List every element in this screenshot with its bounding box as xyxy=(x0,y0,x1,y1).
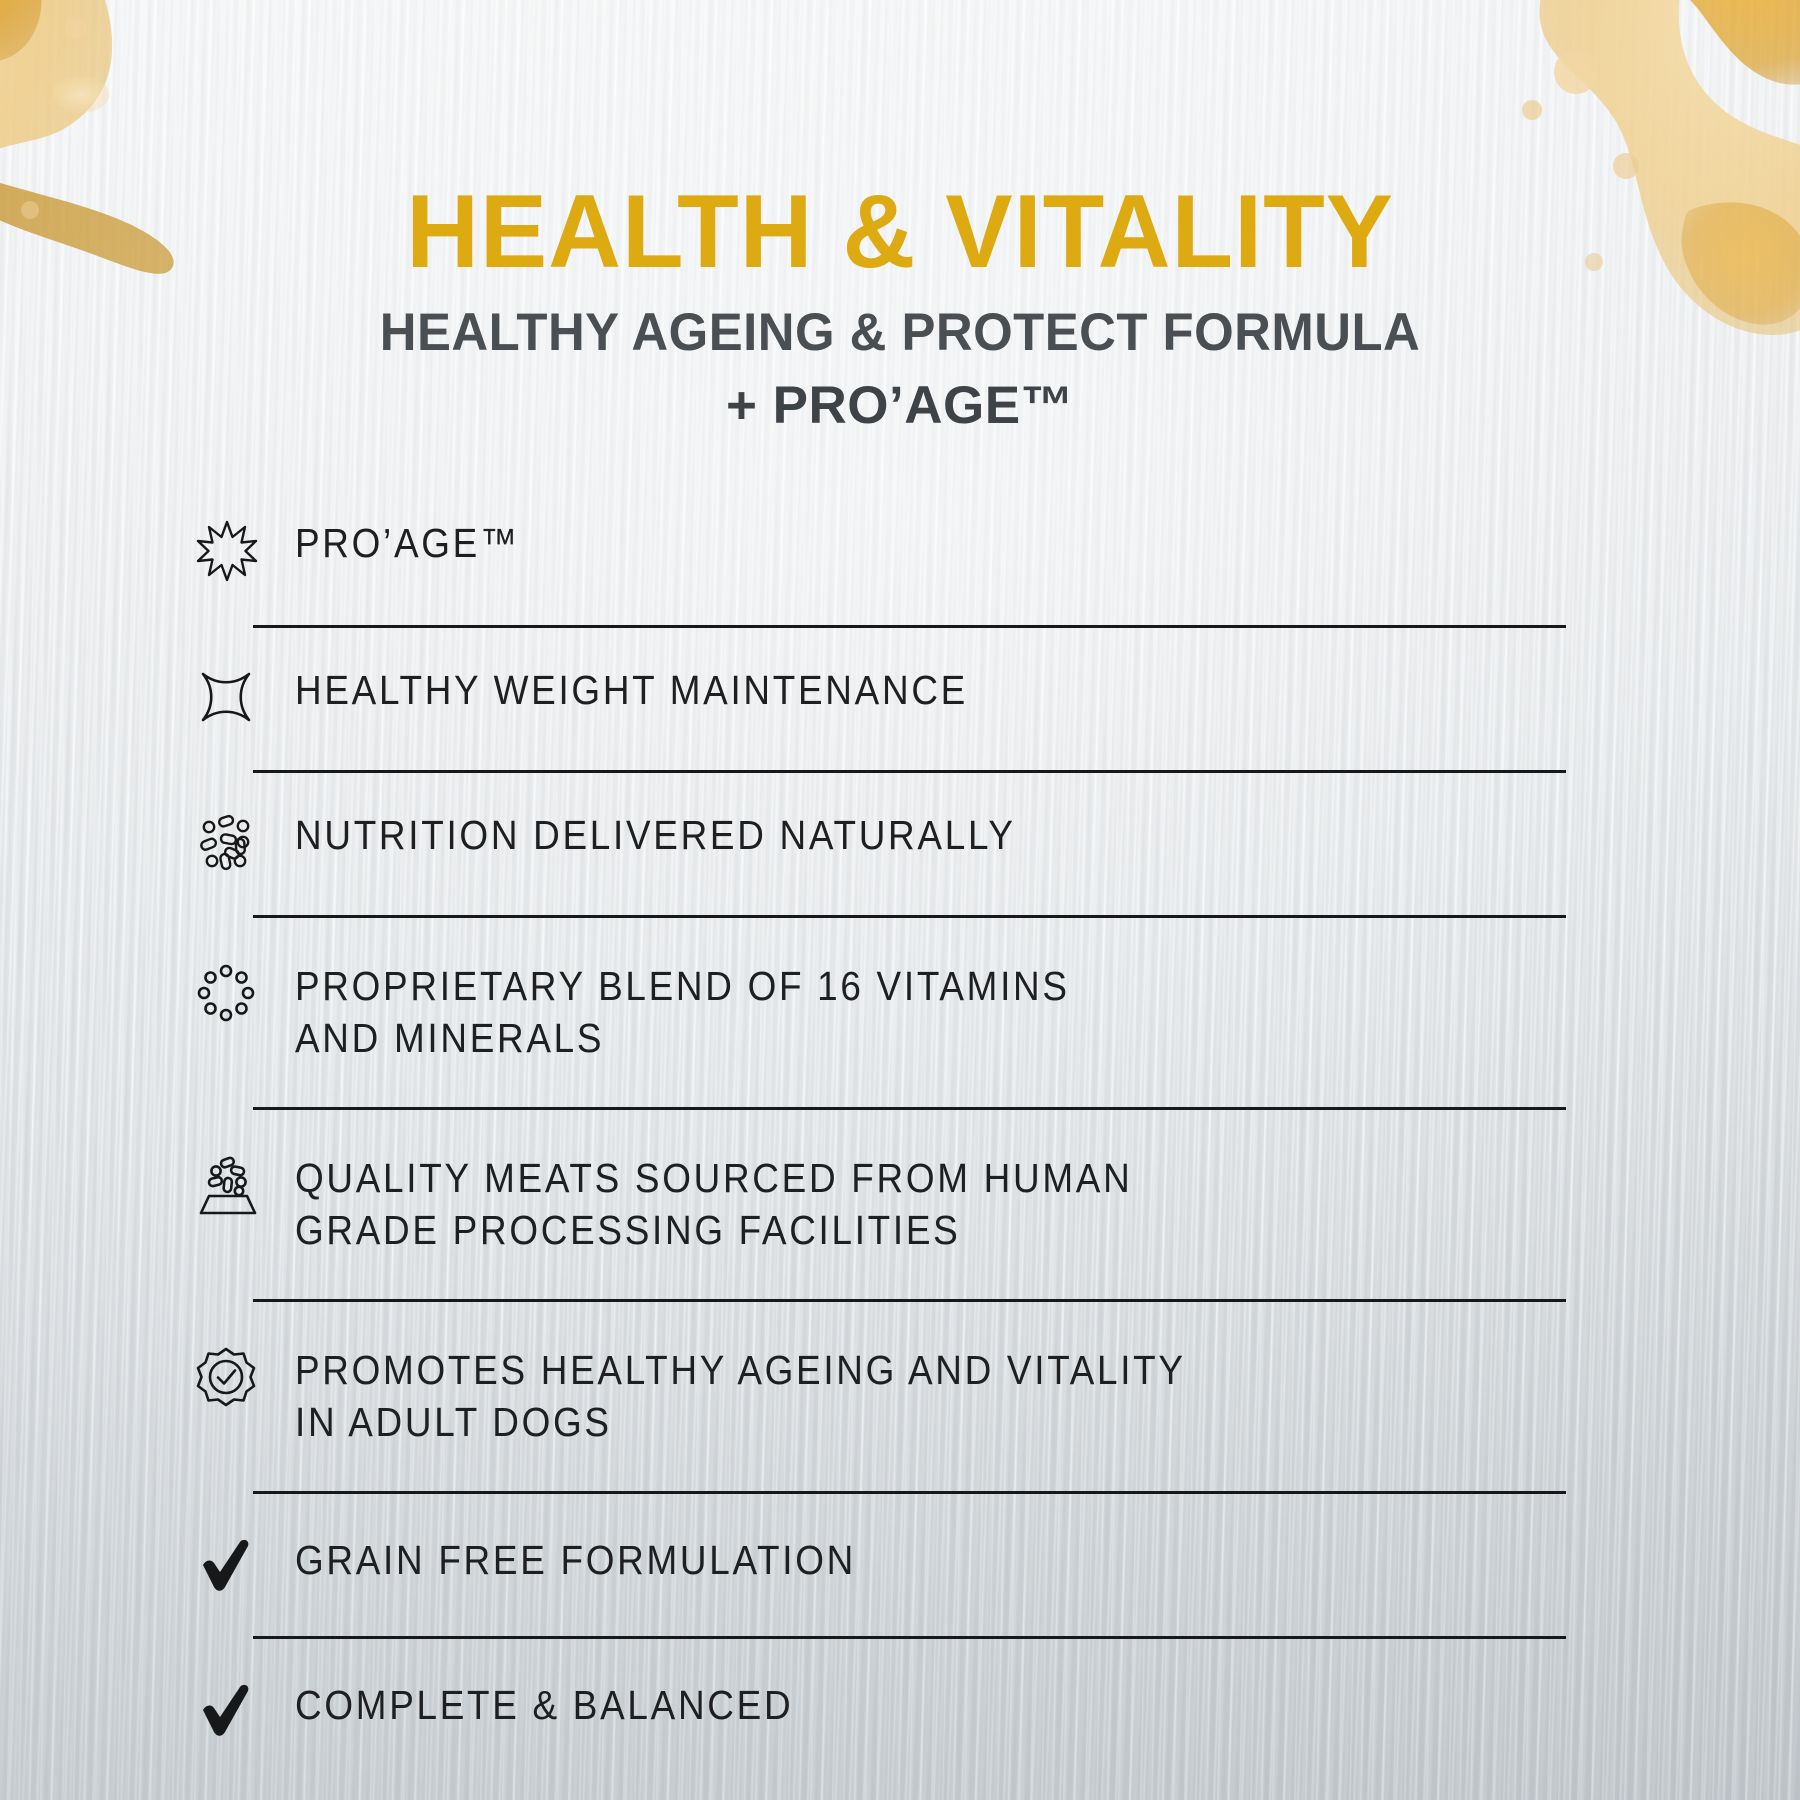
header-block: HEALTH & VITALITY HEALTHY AGEING & PROTE… xyxy=(0,180,1800,432)
starburst-icon xyxy=(195,515,295,583)
page-subtitle: HEALTHY AGEING & PROTECT FORMULA xyxy=(36,306,1764,359)
page-title: HEALTH & VITALITY xyxy=(27,180,1773,284)
list-item: PROMOTES HEALTHY AGEING AND VITALITY IN … xyxy=(195,1342,1570,1457)
list-item-label: COMPLETE & BALANCED xyxy=(295,1679,1443,1731)
list-item-label: NUTRITION DELIVERED NATURALLY xyxy=(295,807,1443,861)
list-item-label: QUALITY MEATS SOURCED FROM HUMAN GRADE P… xyxy=(295,1150,1443,1257)
list-item: COMPLETE & BALANCED xyxy=(195,1679,1570,1747)
page-subtitle-line2: + PRO’AGE™ xyxy=(0,379,1800,432)
spacer xyxy=(195,628,1570,662)
checkmark-icon xyxy=(195,1679,295,1739)
badge-check-icon xyxy=(195,1342,295,1408)
spacer xyxy=(195,773,1570,807)
spacer xyxy=(195,591,1570,625)
spacer xyxy=(195,1602,1570,1636)
spacer xyxy=(195,736,1570,770)
list-item: PRO’AGE™ xyxy=(195,515,1570,591)
kibble-scatter-icon xyxy=(195,807,295,873)
checkmark-icon xyxy=(195,1534,295,1594)
concave-square-icon xyxy=(195,662,295,728)
spacer xyxy=(195,1073,1570,1107)
list-item: HEALTHY WEIGHT MAINTENANCE xyxy=(195,662,1570,736)
spacer xyxy=(195,1639,1570,1679)
feature-list: PRO’AGE™ HEALTHY WEIGHT MAINTENANCE xyxy=(195,515,1570,1747)
spacer xyxy=(195,918,1570,958)
food-bowl-icon xyxy=(195,1150,295,1216)
list-item-label: PROPRIETARY BLEND OF 16 VITAMINS AND MIN… xyxy=(295,958,1443,1065)
list-item: QUALITY MEATS SOURCED FROM HUMAN GRADE P… xyxy=(195,1150,1570,1265)
spacer xyxy=(195,1110,1570,1150)
list-item: GRAIN FREE FORMULATION xyxy=(195,1534,1570,1602)
spacer xyxy=(195,1302,1570,1342)
spacer xyxy=(195,1265,1570,1299)
spacer xyxy=(195,881,1570,915)
list-item-label: PRO’AGE™ xyxy=(295,515,1443,569)
circle-of-dots-icon xyxy=(195,958,295,1024)
list-item: NUTRITION DELIVERED NATURALLY xyxy=(195,807,1570,881)
list-item-label: GRAIN FREE FORMULATION xyxy=(295,1534,1443,1586)
spacer xyxy=(195,1494,1570,1534)
list-item-label: PROMOTES HEALTHY AGEING AND VITALITY IN … xyxy=(295,1342,1443,1449)
list-item-label: HEALTHY WEIGHT MAINTENANCE xyxy=(295,662,1443,716)
product-feature-panel: HEALTH & VITALITY HEALTHY AGEING & PROTE… xyxy=(0,0,1800,1800)
list-item: PROPRIETARY BLEND OF 16 VITAMINS AND MIN… xyxy=(195,958,1570,1073)
spacer xyxy=(195,1457,1570,1491)
